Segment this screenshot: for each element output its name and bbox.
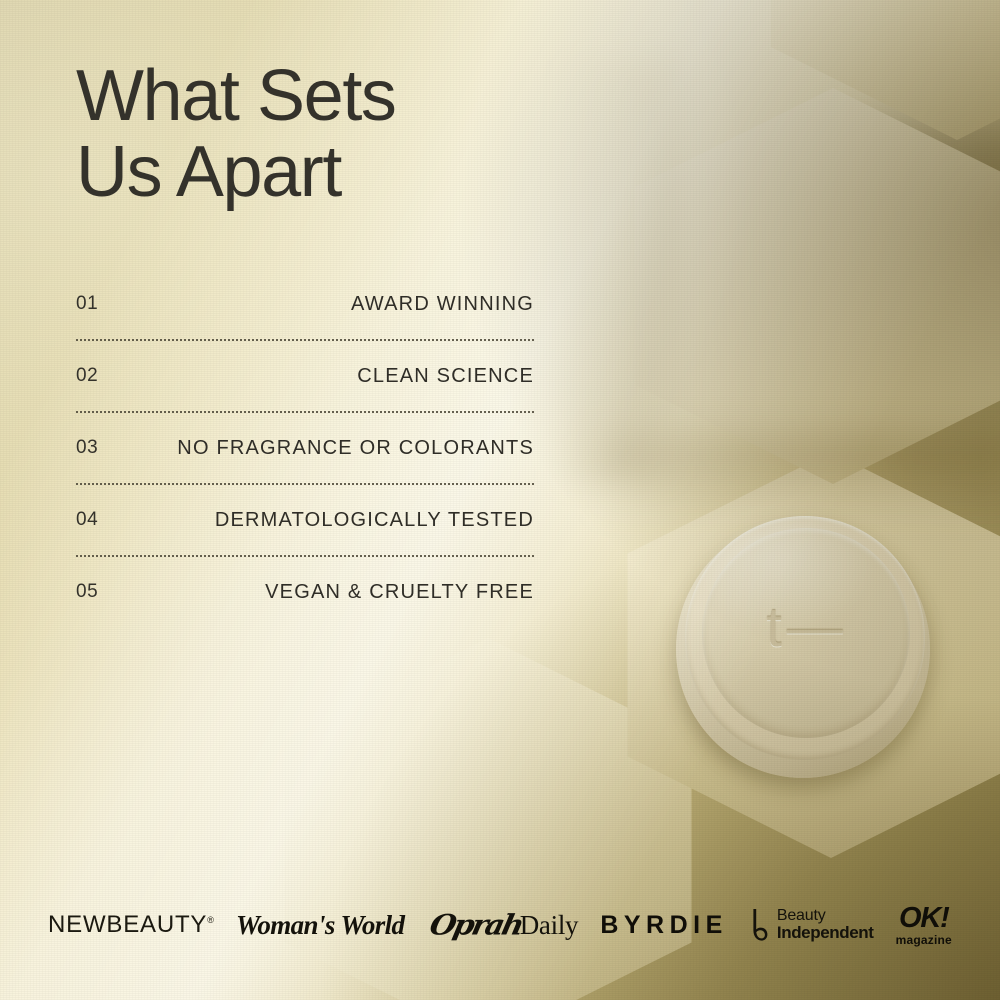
daily-wordmark: Daily — [520, 912, 579, 939]
beauty-independent-b-icon — [750, 908, 768, 942]
list-item: 04 DERMATOLOGICALLY TESTED — [76, 485, 534, 555]
benefits-list: 01 AWARD WINNING 02 CLEAN SCIENCE 03 NO … — [76, 269, 534, 627]
press-logo-bar: NEWBEAUTY® Woman's World Oprah Daily BYR… — [0, 897, 1000, 953]
list-item: 03 NO FRAGRANCE OR COLORANTS — [76, 413, 534, 483]
registered-trademark-icon: ® — [207, 915, 214, 925]
womans-world-wordmark: Woman's World — [236, 912, 405, 939]
page-title: What Sets Us Apart — [76, 58, 396, 211]
content-column: What Sets Us Apart 01 AWARD WINNING 02 C… — [76, 0, 546, 1000]
ok-wordmark: OK! — [899, 904, 949, 933]
beauty-word: Beauty — [777, 908, 874, 924]
list-item-label: VEGAN & CRUELTY FREE — [265, 581, 534, 604]
newbeauty-wordmark: NEWBEAUTY — [48, 911, 207, 938]
magazine-word: magazine — [896, 934, 952, 946]
list-item-label: DERMATOLOGICALLY TESTED — [215, 509, 534, 532]
press-logo-newbeauty: NEWBEAUTY® — [48, 913, 214, 937]
press-logo-ok-magazine: OK! magazine — [896, 904, 952, 946]
marketing-poster: t— What Sets Us Apart 01 AWARD WINNING 0… — [0, 0, 1000, 1000]
list-item-number: 01 — [76, 293, 98, 315]
list-item-number: 02 — [76, 365, 98, 387]
list-item: 02 CLEAN SCIENCE — [76, 341, 534, 411]
list-item: 05 VEGAN & CRUELTY FREE — [76, 557, 534, 627]
press-logo-byrdie: BYRDIE — [600, 913, 727, 938]
list-item-number: 04 — [76, 509, 98, 531]
list-item-number: 03 — [76, 437, 98, 459]
list-item-label: AWARD WINNING — [351, 293, 534, 316]
byrdie-wordmark: BYRDIE — [600, 913, 727, 938]
list-item-label: NO FRAGRANCE OR COLORANTS — [177, 437, 534, 460]
press-logo-womans-world: Woman's World — [236, 912, 405, 939]
press-logo-oprah-daily: Oprah Daily — [427, 910, 579, 940]
list-item-number: 05 — [76, 581, 98, 603]
oprah-script-wordmark: Oprah — [427, 912, 524, 940]
press-logo-beauty-independent: Beauty Independent — [750, 908, 874, 942]
independent-word: Independent — [777, 924, 874, 941]
list-item: 01 AWARD WINNING — [76, 269, 534, 339]
list-item-label: CLEAN SCIENCE — [357, 365, 534, 388]
